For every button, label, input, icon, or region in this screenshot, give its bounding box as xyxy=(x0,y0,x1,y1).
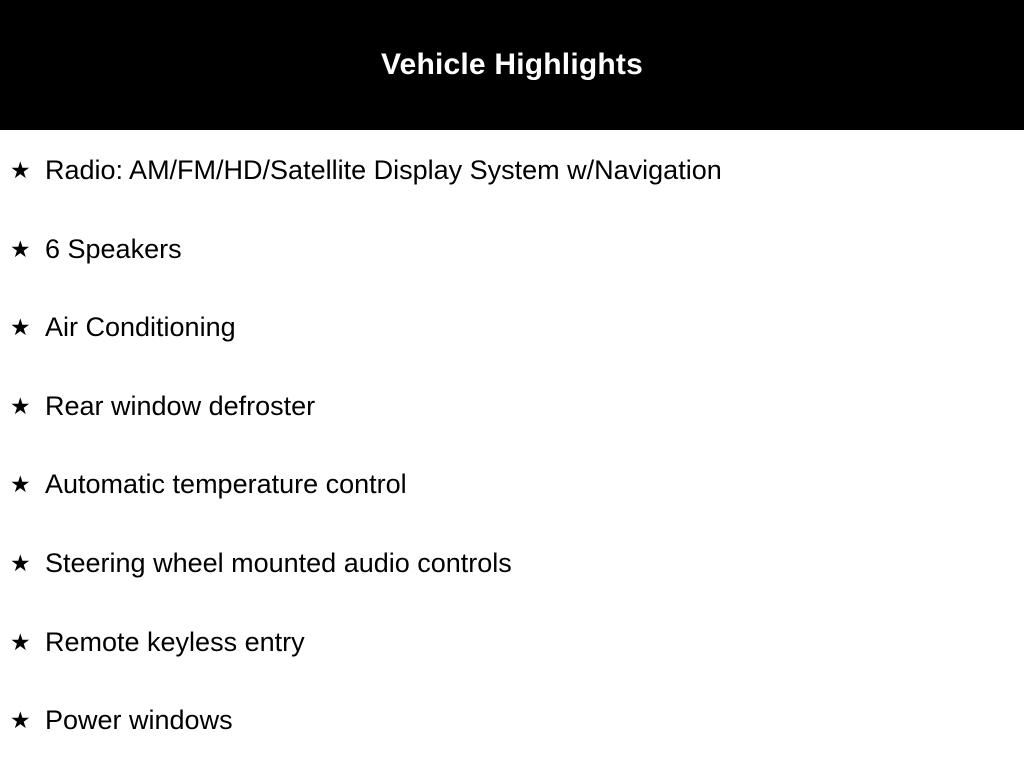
star-bullet-icon: ★ xyxy=(10,444,34,497)
star-bullet-icon: ★ xyxy=(10,523,34,576)
list-item: ★ Rear window defroster xyxy=(0,366,1024,445)
highlight-label: Remote keyless entry xyxy=(34,602,305,656)
vehicle-highlights-page: Vehicle Highlights ★ Radio: AM/FM/HD/Sat… xyxy=(0,0,1024,768)
highlight-label: Rear window defroster xyxy=(34,366,315,420)
page-header-band: Vehicle Highlights xyxy=(0,0,1024,130)
highlight-label: Radio: AM/FM/HD/Satellite Display System… xyxy=(34,130,722,184)
list-item: ★ Power windows xyxy=(0,680,1024,759)
list-item: ★ Remote keyless entry xyxy=(0,602,1024,681)
star-bullet-icon: ★ xyxy=(10,209,34,262)
highlight-label: Power windows xyxy=(34,680,233,734)
star-bullet-icon: ★ xyxy=(10,680,34,733)
highlight-label: Steering wheel mounted audio controls xyxy=(34,523,512,577)
list-item: ★ 6 Speakers xyxy=(0,209,1024,288)
page-title: Vehicle Highlights xyxy=(381,50,643,80)
list-item: ★ Automatic temperature control xyxy=(0,444,1024,523)
highlight-label: Automatic temperature control xyxy=(34,444,407,498)
highlight-label: 6 Speakers xyxy=(34,209,182,263)
star-bullet-icon: ★ xyxy=(10,287,34,340)
star-bullet-icon: ★ xyxy=(10,366,34,419)
list-item: ★ Steering wheel mounted audio controls xyxy=(0,523,1024,602)
star-bullet-icon: ★ xyxy=(10,130,34,183)
list-item: ★ Radio: AM/FM/HD/Satellite Display Syst… xyxy=(0,130,1024,209)
highlight-label: Air Conditioning xyxy=(34,287,236,341)
vehicle-highlights-list: ★ Radio: AM/FM/HD/Satellite Display Syst… xyxy=(0,130,1024,759)
list-item: ★ Air Conditioning xyxy=(0,287,1024,366)
star-bullet-icon: ★ xyxy=(10,602,34,655)
